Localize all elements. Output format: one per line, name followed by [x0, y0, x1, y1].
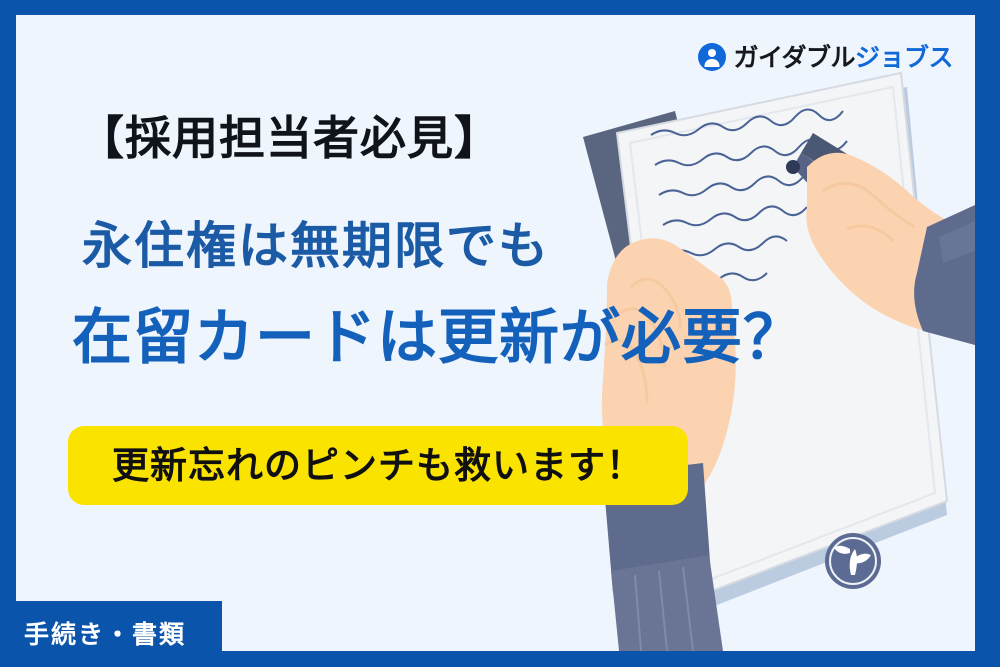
pen [786, 133, 907, 211]
highlight-badge-text: 更新忘れのピンチも救います！ [112, 447, 644, 484]
banner-inner-panel: ガイダブルジョブス 【採用担当者必見】 永住権は無期限でも 在留カードは更新が必… [16, 15, 975, 651]
brand-name-part-1: ガイダブル [733, 43, 855, 72]
category-tag-label: 手続き・書類 [24, 622, 186, 647]
brand-name-part-2: ジョブス [855, 43, 953, 72]
person-circle-icon [698, 43, 726, 71]
category-tag[interactable]: 手続き・書類 [0, 601, 222, 667]
brand-logo-text: ガイダブルジョブス [733, 45, 953, 70]
headline-line-1: 永住権は無期限でも [82, 221, 550, 271]
highlight-badge: 更新忘れのピンチも救います！ [68, 426, 688, 505]
eyebrow-text: 【採用担当者必見】 [78, 115, 501, 161]
wavy-text-lines [651, 109, 847, 285]
circular-leaf-seal [825, 533, 881, 589]
banner-canvas: ガイダブルジョブス 【採用担当者必見】 永住権は無期限でも 在留カードは更新が必… [0, 0, 1000, 667]
dark-clipboard [583, 111, 705, 265]
brand-logo[interactable]: ガイダブルジョブス [698, 43, 953, 71]
right-hand-with-pen [806, 153, 975, 345]
headline-line-2: 在留カードは更新が必要？ [72, 308, 804, 368]
